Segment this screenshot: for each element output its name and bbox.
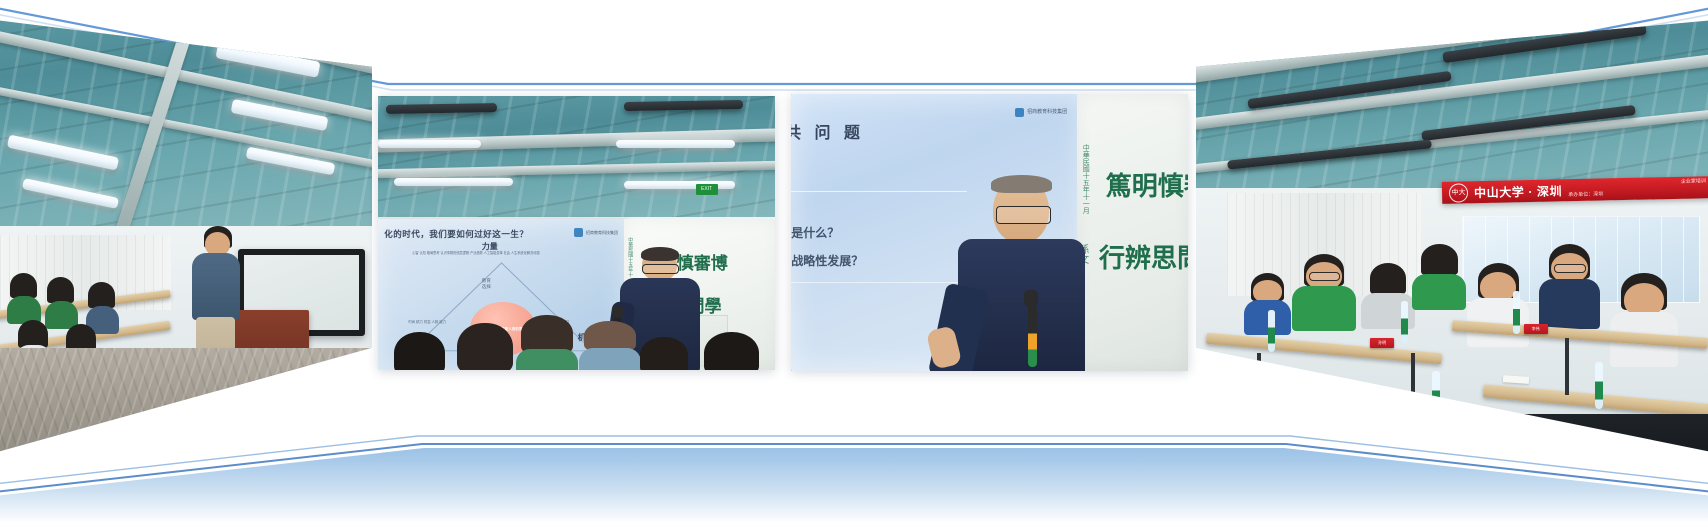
gallery-stage: EXIT 化的时代，我们要如何过好这一生？ 招商教育科技集团 力量 心智 认知 … bbox=[0, 0, 1708, 523]
diagram-subtext-left: 时间 精力 财富 人脉 能力 bbox=[408, 320, 458, 325]
audience-head bbox=[457, 323, 513, 370]
carousel-slide-4[interactable]: 中大 中山大学 · 深圳 承办单位：深圳 企业家培训 bbox=[1196, 0, 1708, 470]
scene-classroom-wide bbox=[0, 0, 372, 470]
ceiling-light bbox=[394, 178, 513, 186]
attendee-figure bbox=[86, 282, 119, 329]
banner-top-label: 企业家培训 bbox=[1681, 177, 1706, 185]
slide-title: 化的时代，我们要如何过好这一生？ bbox=[384, 228, 528, 240]
banner-title: 中山大学 · 深圳 bbox=[1474, 181, 1562, 200]
calligraphy-board: 篤明慎審博 行辨思問學 中華民國十五年十一月 孫文 bbox=[1077, 94, 1188, 371]
logo-label: 招商教育科技集团 bbox=[1027, 110, 1067, 116]
scene-audience-wide: 中大 中山大学 · 深圳 承办单位：深圳 企业家培训 bbox=[1196, 0, 1708, 470]
desk-leg bbox=[1411, 353, 1415, 409]
carpet-floor bbox=[0, 348, 372, 470]
handout-paper bbox=[1329, 394, 1358, 404]
ceiling-teal bbox=[378, 96, 775, 222]
water-bottle bbox=[1513, 291, 1520, 333]
logo-mark bbox=[574, 228, 583, 237]
name-plate: 周桂平 bbox=[1442, 423, 1476, 437]
audience-head bbox=[521, 315, 573, 370]
scene-lecture-slide: EXIT 化的时代，我们要如何过好这一生？ 招商教育科技集团 力量 心智 认知 … bbox=[378, 96, 775, 370]
water-bottle bbox=[1268, 310, 1275, 352]
slide-bullet-2: 到战略性发展？ bbox=[791, 252, 863, 269]
ceiling-light bbox=[378, 140, 481, 148]
carousel-slide-2[interactable]: EXIT 化的时代，我们要如何过好这一生？ 招商教育科技集团 力量 心智 认知 … bbox=[378, 96, 775, 370]
name-plate: 郑小兵 bbox=[1298, 414, 1330, 427]
desk-leg bbox=[1257, 353, 1261, 409]
floor-shadow bbox=[1196, 414, 1708, 470]
audience-head bbox=[584, 321, 636, 370]
water-bottle bbox=[1432, 371, 1440, 418]
name-plate: 李伟 bbox=[1524, 324, 1548, 334]
calligraphy-line-2: 行辨思問學 bbox=[1099, 238, 1188, 275]
attendee-figure bbox=[7, 273, 40, 320]
slide-logo: 招商教育科技集团 bbox=[1015, 108, 1067, 117]
eyeglasses bbox=[996, 206, 1051, 224]
exit-sign: EXIT bbox=[696, 184, 718, 195]
logo-mark bbox=[1015, 108, 1024, 117]
attendee-figure bbox=[1298, 254, 1349, 325]
microphone-head bbox=[612, 305, 623, 318]
slide-bullet-1: 量是什么？ bbox=[791, 224, 839, 241]
calligraphy-line-1: 篤明慎審博 bbox=[1106, 166, 1188, 203]
speaker-figure bbox=[958, 177, 1085, 371]
slide-title: 共 问 题 bbox=[791, 119, 864, 143]
diagram-subtext-top: 心智 认知 格局思考 认识事物的底层逻辑 产业趋势 人工智能变革 社会 人生系统… bbox=[412, 251, 590, 256]
attendee-figure bbox=[1416, 244, 1462, 305]
carousel-slide-3-active[interactable]: 共 问 题 招商教育科技集团 量是什么？ 到战略性发展？ 篤明慎審博 行辨思問學… bbox=[791, 94, 1188, 371]
scene-speaker-closeup: 共 问 题 招商教育科技集团 量是什么？ 到战略性发展？ 篤明慎審博 行辨思問學… bbox=[791, 94, 1188, 371]
carousel-slide-1[interactable] bbox=[0, 0, 372, 470]
audience-head bbox=[394, 332, 446, 370]
banner-subtitle: 承办单位：深圳 bbox=[1568, 190, 1603, 198]
audience-head bbox=[640, 337, 688, 370]
water-bottle bbox=[1595, 362, 1603, 409]
attendee-figure bbox=[1544, 244, 1595, 319]
water-bottle bbox=[1401, 301, 1408, 343]
microphone bbox=[1028, 305, 1037, 367]
ceiling-light bbox=[616, 140, 735, 148]
desk-leg bbox=[1565, 338, 1569, 394]
attendee-figure bbox=[45, 277, 78, 324]
name-plate: 孙明 bbox=[1370, 338, 1394, 348]
diagram-node-top: 教育 选择 bbox=[482, 278, 491, 290]
ceiling-light bbox=[624, 181, 735, 189]
university-seal-icon: 中大 bbox=[1449, 182, 1468, 201]
microphone-head bbox=[1024, 290, 1038, 307]
logo-label: 招商教育科技集团 bbox=[586, 231, 618, 235]
slide-logo: 招商教育科技集团 bbox=[574, 228, 618, 237]
audience-head bbox=[704, 332, 760, 370]
